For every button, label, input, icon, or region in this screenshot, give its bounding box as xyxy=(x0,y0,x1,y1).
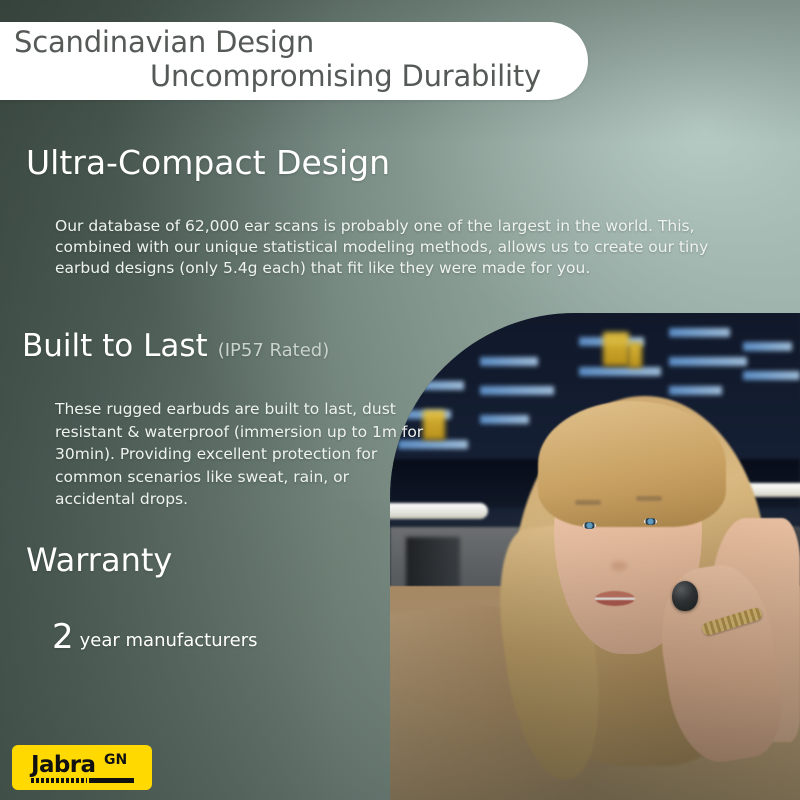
lifestyle-photo xyxy=(390,313,800,800)
header-title-line-2: Uncompromising Durability xyxy=(150,59,541,93)
jabra-logo: Jabra GN xyxy=(12,745,152,790)
warranty-value: 2year manufacturers xyxy=(52,617,258,657)
board-line xyxy=(743,371,800,380)
lips xyxy=(595,591,635,606)
board-line xyxy=(480,415,529,424)
board-line xyxy=(669,357,747,366)
warranty-years-number: 2 xyxy=(52,617,74,657)
jabra-logo-dots xyxy=(31,778,87,783)
board-line xyxy=(398,381,464,390)
section-heading-built-to-last-text: Built to Last xyxy=(22,328,208,364)
jabra-soundwave-rule xyxy=(31,778,134,783)
board-amber-text xyxy=(628,342,642,368)
section-heading-built-to-last: Built to Last(IP57 Rated) xyxy=(22,328,329,364)
board-line xyxy=(669,386,722,395)
earbud xyxy=(672,581,698,611)
eyebrow xyxy=(636,496,662,501)
product-feature-poster: Scandinavian Design Uncompromising Durab… xyxy=(0,0,800,800)
section-heading-warranty: Warranty xyxy=(26,541,172,579)
section-body-ultra-compact: Our database of 62,000 ear scans is prob… xyxy=(55,216,735,279)
photo-inner xyxy=(390,313,800,800)
hair-front xyxy=(538,401,727,528)
board-line xyxy=(743,342,792,351)
section-heading-ultra-compact: Ultra-Compact Design xyxy=(26,143,390,182)
jabra-logo-bar xyxy=(89,778,134,783)
section-body-built-to-last: These rugged earbuds are built to last, … xyxy=(55,398,425,511)
board-line xyxy=(480,386,554,395)
header-title-line-1: Scandinavian Design xyxy=(14,25,314,59)
eyebrow xyxy=(575,500,601,505)
board-line xyxy=(579,367,661,376)
warranty-years-unit: year manufacturers xyxy=(80,630,258,651)
header-banner: Scandinavian Design Uncompromising Durab… xyxy=(0,22,588,100)
board-line xyxy=(480,357,537,366)
board-amber-text xyxy=(423,410,445,440)
gn-wordmark: GN xyxy=(104,752,127,768)
board-amber-text xyxy=(603,332,629,366)
board-line xyxy=(669,328,731,337)
section-heading-ip-rating: (IP57 Rated) xyxy=(218,340,330,361)
eye xyxy=(644,518,657,525)
jabra-wordmark: Jabra xyxy=(31,752,95,778)
